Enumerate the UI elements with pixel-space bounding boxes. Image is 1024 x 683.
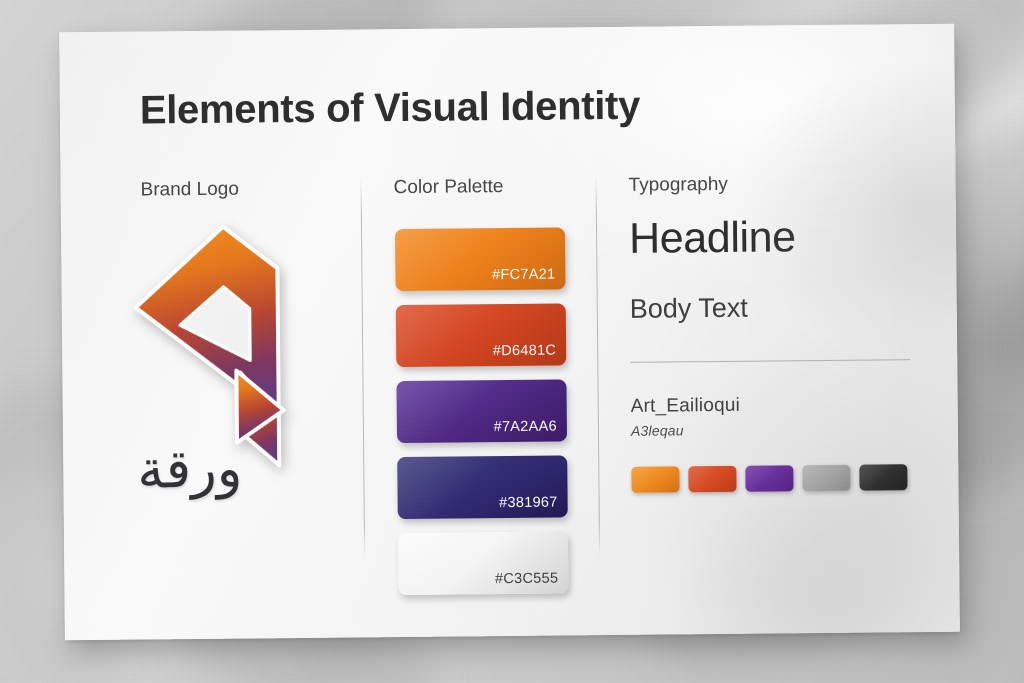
accent-chip[interactable] [688,466,736,492]
chip-sheen [631,467,679,493]
color-swatch[interactable]: #C3C555 [398,531,569,595]
color-swatch[interactable]: #7A2AA6 [396,379,567,443]
chip-sheen [688,466,736,492]
swatch-hex-label: #7A2AA6 [493,419,557,436]
chip-sheen [745,466,793,492]
color-swatch[interactable]: #FC7A21 [395,227,566,291]
color-swatch[interactable]: #D6481C [396,303,567,367]
column-divider [595,174,600,557]
color-swatch[interactable]: #381967 [397,455,568,519]
slide-canvas: Elements of Visual Identity Brand Logo C… [0,0,1024,683]
swatch-hex-label: #FC7A21 [492,267,556,284]
primary-font-name: Art_Eailioqui [630,360,931,418]
logo-mark-icon [127,220,319,472]
section-heading-color-palette: Color Palette [394,176,504,199]
swatch-hex-label: #381967 [499,495,558,512]
headline-specimen: Headline [629,214,929,262]
brand-sheet-surface: Elements of Visual Identity Brand Logo C… [59,24,960,641]
accent-color-chips [631,436,932,493]
chip-sheen [859,465,907,491]
section-heading-brand-logo: Brand Logo [141,179,239,202]
accent-chip[interactable] [745,466,793,492]
column-divider [360,176,365,559]
brand-sheet: Elements of Visual Identity Brand Logo C… [59,24,960,641]
brand-logo-block: ورقة [127,220,345,522]
accent-chip[interactable] [802,465,850,491]
section-heading-typography: Typography [628,174,728,197]
body-text-specimen: Body Text [629,259,930,323]
page-title: Elements of Visual Identity [140,84,641,134]
swatch-hex-label: #D6481C [493,343,557,360]
color-palette-list: #FC7A21 #D6481C #7A2AA6 #381967 #C3C555 [395,227,571,609]
accent-chip[interactable] [631,467,679,493]
chip-sheen [802,465,850,491]
accent-chip[interactable] [859,465,907,491]
swatch-hex-label: #C3C555 [495,571,559,588]
typography-block: Headline Body Text Art_Eailioqui A3leqau [629,214,932,493]
logo-wordmark: ورقة [137,443,242,497]
secondary-font-name: A3leqau [631,415,931,439]
